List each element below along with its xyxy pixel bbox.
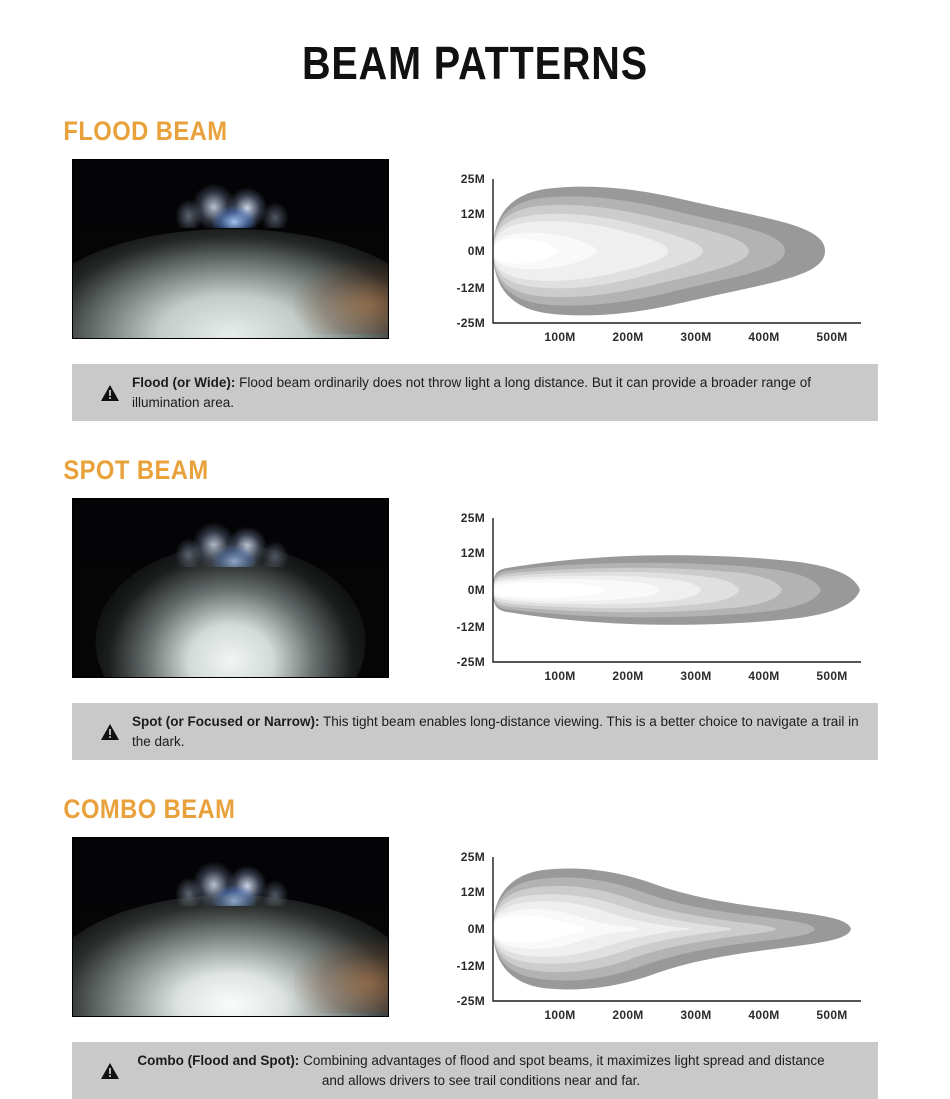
x-tick-label: 400M <box>748 330 779 344</box>
combo-beam-chart: 25M 12M 0M -12M -25M 100M 200M 300M 400M… <box>389 837 950 1022</box>
warning-triangle-icon <box>100 1062 120 1080</box>
beam-contours-flood <box>493 187 825 316</box>
spot-beam-photo <box>72 498 389 678</box>
section-heading-spot: SPOT BEAM <box>0 455 836 486</box>
x-tick-label: 500M <box>816 669 847 683</box>
x-tick-label: 400M <box>748 1008 779 1022</box>
y-tick-label: 25M <box>461 172 485 186</box>
section-heading-flood: FLOOD BEAM <box>0 116 836 147</box>
caption-bar-flood: Flood (or Wide): Flood beam ordinarily d… <box>72 364 878 421</box>
section-body-flood: 25M 12M 0M -12M -25M 100M 200M 300M 400M… <box>0 147 950 344</box>
section-body-spot: 25M 12M 0M -12M -25M 100M 200M 300M 400M… <box>0 486 950 683</box>
y-tick-label: 0M <box>468 922 485 936</box>
combo-beam-diagram: 25M 12M 0M -12M -25M 100M 200M 300M 400M… <box>449 837 869 1022</box>
warning-triangle-icon <box>100 723 120 741</box>
y-tick-label: -25M <box>456 316 485 330</box>
x-tick-label: 100M <box>544 330 575 344</box>
y-tick-label: -12M <box>456 620 485 634</box>
caption-lead: Spot (or Focused or Narrow): <box>132 714 320 729</box>
warning-triangle-icon <box>100 384 120 402</box>
y-tick-label: 12M <box>461 546 485 560</box>
x-tick-label: 100M <box>544 669 575 683</box>
caption-bar-spot: Spot (or Focused or Narrow): This tight … <box>72 703 878 760</box>
section-combo: COMBO BEAM <box>0 794 950 1099</box>
y-tick-label: -12M <box>456 281 485 295</box>
combo-beam-photo <box>72 837 389 1017</box>
x-tick-label: 300M <box>680 330 711 344</box>
y-tick-label: 25M <box>461 511 485 525</box>
caption-lead: Flood (or Wide): <box>132 375 235 390</box>
x-tick-label: 500M <box>816 1008 847 1022</box>
spacer <box>0 760 950 794</box>
caption-bar-combo: Combo (Flood and Spot): Combining advant… <box>72 1042 878 1099</box>
section-spot: SPOT BEAM <box>0 455 950 760</box>
caption-text-combo: Combo (Flood and Spot): Combining advant… <box>132 1051 864 1090</box>
x-tick-label: 200M <box>612 1008 643 1022</box>
y-tick-label: -25M <box>456 994 485 1008</box>
photo-warm-brush <box>294 260 390 335</box>
beam-contours-spot <box>493 555 860 625</box>
flood-beam-photo <box>72 159 389 339</box>
x-tick-label: 400M <box>748 669 779 683</box>
caption-text-spot: Spot (or Focused or Narrow): This tight … <box>132 712 864 751</box>
x-tick-label: 300M <box>680 669 711 683</box>
y-tick-label: 0M <box>468 583 485 597</box>
photo-warm-brush <box>294 938 390 1013</box>
section-heading-combo: COMBO BEAM <box>0 794 836 825</box>
spacer <box>0 90 950 116</box>
caption-body: Combining advantages of flood and spot b… <box>303 1053 825 1088</box>
section-body-combo: 25M 12M 0M -12M -25M 100M 200M 300M 400M… <box>0 825 950 1022</box>
y-tick-label: -25M <box>456 655 485 669</box>
spot-beam-diagram: 25M 12M 0M -12M -25M 100M 200M 300M 400M… <box>449 498 869 683</box>
beam-patterns-page: BEAM PATTERNS FLOOD BEAM <box>0 0 950 1093</box>
flood-beam-diagram: 25M 12M 0M -12M -25M 100M 200M 300M 400M… <box>449 159 869 344</box>
page-title: BEAM PATTERNS <box>67 0 884 90</box>
y-tick-label: 12M <box>461 885 485 899</box>
spot-beam-chart: 25M 12M 0M -12M -25M 100M 200M 300M 400M… <box>389 498 950 683</box>
section-flood: FLOOD BEAM <box>0 116 950 421</box>
flood-beam-chart: 25M 12M 0M -12M -25M 100M 200M 300M 400M… <box>389 159 950 344</box>
y-tick-label: 25M <box>461 850 485 864</box>
beam-contours-combo <box>493 869 851 990</box>
y-tick-label: -12M <box>456 959 485 973</box>
y-tick-label: 12M <box>461 207 485 221</box>
x-tick-label: 500M <box>816 330 847 344</box>
spacer <box>0 421 950 455</box>
caption-text-flood: Flood (or Wide): Flood beam ordinarily d… <box>132 373 864 412</box>
x-tick-label: 200M <box>612 330 643 344</box>
x-tick-label: 100M <box>544 1008 575 1022</box>
y-tick-label: 0M <box>468 244 485 258</box>
x-tick-label: 300M <box>680 1008 711 1022</box>
caption-lead: Combo (Flood and Spot): <box>137 1053 299 1068</box>
x-tick-label: 200M <box>612 669 643 683</box>
